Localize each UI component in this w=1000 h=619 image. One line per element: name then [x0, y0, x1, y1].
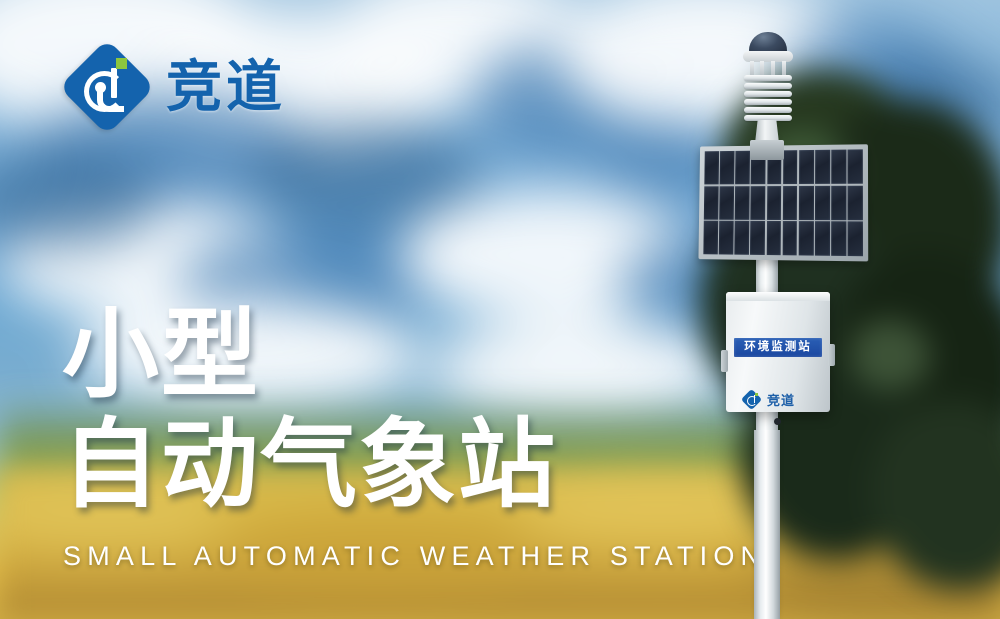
ultrasonic-weather-sensor-icon	[735, 30, 800, 150]
promo-banner: 竞道 小型 自动气象站 SMALL AUTOMATIC WEATHER STAT…	[0, 0, 1000, 619]
hero-subtitle: SMALL AUTOMATIC WEATHER STATION	[63, 541, 766, 572]
jingdao-diamond-logo-icon-small	[742, 390, 762, 410]
solar-panel-icon	[698, 144, 868, 261]
hero-title-line2: 自动气象站	[62, 410, 557, 520]
mounting-pole-lower	[754, 430, 780, 619]
weather-station-product: 环境监测站 竞道	[690, 30, 870, 619]
enclosure-banner: 环境监测站	[734, 338, 822, 357]
solar-cell-grid	[703, 149, 863, 256]
brand-name: 竞道	[166, 59, 286, 115]
hero-title-line1: 小型	[62, 300, 557, 410]
enclosure-brand-name: 竞道	[767, 394, 795, 407]
enclosure-banner-text: 环境监测站	[744, 342, 812, 354]
panel-mount-bracket	[750, 140, 784, 160]
enclosure-screw	[774, 418, 781, 425]
hero-title: 小型 自动气象站	[62, 300, 557, 519]
brand-logo[interactable]: 竞道	[64, 44, 286, 130]
enclosure-brand-logo: 竞道	[742, 390, 795, 410]
monitoring-enclosure: 环境监测站 竞道	[726, 292, 830, 412]
jingdao-diamond-logo-icon	[64, 44, 150, 130]
